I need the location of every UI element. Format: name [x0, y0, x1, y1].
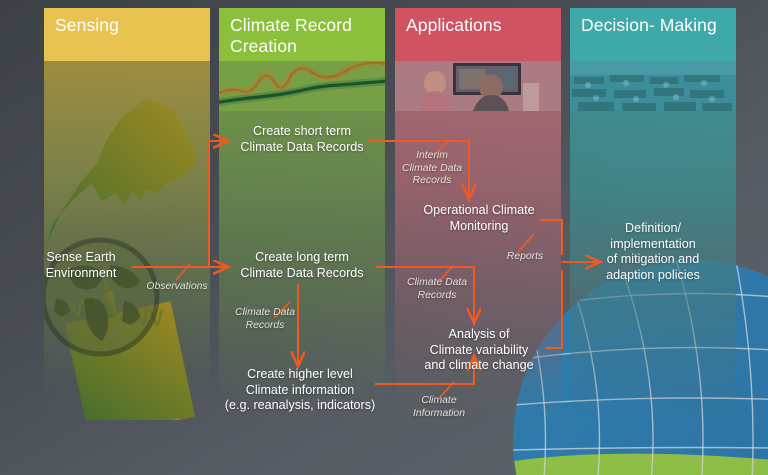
- climate-timeseries-graph: [219, 61, 385, 111]
- edge-label-cdr-to-higher: Climate Data Records: [221, 307, 309, 332]
- node-operational-monitoring[interactable]: Operational Climate Monitoring: [404, 203, 554, 234]
- column-decision-making-title: Decision- Making: [570, 8, 736, 61]
- node-policies[interactable]: Definition/ implementation of mitigation…: [578, 221, 728, 283]
- column-sensing-body: [44, 61, 210, 420]
- node-higher-level-info[interactable]: Create higher level Climate information …: [210, 367, 390, 414]
- edge-label-climate-information: Climate Information: [397, 395, 481, 420]
- edge-label-reports: Reports: [494, 251, 556, 264]
- edge-label-interim-cdr: Interim Climate Data Records: [389, 150, 475, 188]
- people-at-screen-photo: [395, 61, 561, 111]
- edge-label-cdr-to-analysis: Climate Data Records: [393, 277, 481, 302]
- column-applications-title: Applications: [395, 8, 561, 61]
- node-short-term-cdr[interactable]: Create short term Climate Data Records: [232, 124, 372, 155]
- column-decision-making: Decision- Making: [570, 8, 736, 420]
- node-long-term-cdr[interactable]: Create long term Climate Data Records: [232, 250, 372, 281]
- node-sense-earth[interactable]: Sense Earth Environment: [26, 250, 136, 281]
- conference-hall-photo: [570, 61, 736, 111]
- column-climate-record-creation-title: Climate Record Creation: [219, 8, 385, 61]
- column-sensing-title: Sensing: [44, 8, 210, 61]
- node-analysis[interactable]: Analysis of Climate variability and clim…: [400, 327, 558, 374]
- diagram-canvas: Sensing: [0, 0, 768, 475]
- edge-label-observations: Observations: [132, 281, 222, 294]
- column-sensing: Sensing: [44, 8, 210, 420]
- column-climate-record-creation: Climate Record Creation: [219, 8, 385, 420]
